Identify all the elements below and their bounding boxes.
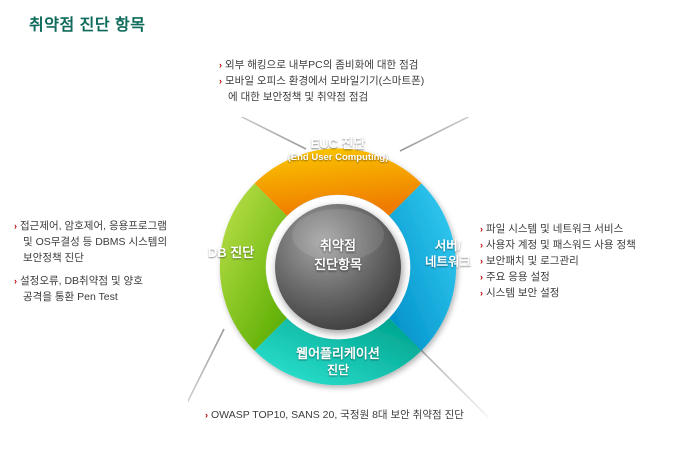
bullet-text: 에 대한 보안정책 및 취약점 점검 bbox=[228, 90, 424, 105]
callout-euc: ›외부 해킹으로 내부PC의 좀비화에 대한 점검›모바일 오피스 환경에서 모… bbox=[219, 58, 424, 106]
bullet-item: ›설정오류, DB취약점 및 양호 bbox=[14, 274, 209, 289]
bullet-arrow-icon: › bbox=[480, 238, 483, 253]
bullet-item-continuation: 보안정책 진단 bbox=[14, 251, 209, 266]
bullet-spacer bbox=[14, 267, 209, 274]
bullet-text: 모바일 오피스 환경에서 모바일기기(스마트폰) bbox=[225, 74, 424, 89]
bullet-item: ›보안패치 및 로그관리 bbox=[480, 254, 636, 269]
bullet-text: 시스템 보안 설정 bbox=[486, 286, 636, 301]
bullet-text: OWASP TOP10, SANS 20, 국정원 8대 보안 취약점 진단 bbox=[211, 408, 464, 423]
donut-chart-svg bbox=[188, 117, 488, 417]
bullet-item: ›외부 해킹으로 내부PC의 좀비화에 대한 점검 bbox=[219, 58, 424, 73]
bullet-item-continuation: 공격을 통환 Pen Test bbox=[14, 290, 209, 305]
page-title: 취약점 진단 항목 bbox=[29, 11, 145, 35]
callout-web-application: ›OWASP TOP10, SANS 20, 국정원 8대 보안 취약점 진단 bbox=[205, 408, 464, 424]
center-sphere-highlight bbox=[292, 209, 384, 261]
bullet-text: 접근제어, 암호제어, 응용프로그램 bbox=[20, 219, 209, 234]
bullet-arrow-icon: › bbox=[14, 219, 17, 234]
bullet-text: 보안패치 및 로그관리 bbox=[486, 254, 636, 269]
bullet-item: ›사용자 계정 및 패스워드 사용 정책 bbox=[480, 238, 636, 253]
bullet-item-continuation: 에 대한 보안정책 및 취약점 점검 bbox=[219, 90, 424, 105]
bullet-text: 설정오류, DB취약점 및 양호 bbox=[20, 274, 209, 289]
bullet-item: ›주요 응용 설정 bbox=[480, 270, 636, 285]
bullet-item: ›OWASP TOP10, SANS 20, 국정원 8대 보안 취약점 진단 bbox=[205, 408, 464, 423]
bullet-text: 주요 응용 설정 bbox=[486, 270, 636, 285]
bullet-text: 외부 해킹으로 내부PC의 좀비화에 대한 점검 bbox=[225, 58, 424, 73]
bullet-item: ›접근제어, 암호제어, 응용프로그램 bbox=[14, 219, 209, 234]
callout-db: ›접근제어, 암호제어, 응용프로그램및 OS무결성 등 DBMS 시스템의보안… bbox=[14, 219, 209, 306]
bullet-text: 파일 시스템 및 네트워크 서비스 bbox=[486, 222, 636, 237]
bullet-item: ›파일 시스템 및 네트워크 서비스 bbox=[480, 222, 636, 237]
bullet-arrow-icon: › bbox=[480, 286, 483, 301]
bullet-arrow-icon: › bbox=[480, 222, 483, 237]
bullet-text: 사용자 계정 및 패스워드 사용 정책 bbox=[486, 238, 636, 253]
bullet-arrow-icon: › bbox=[205, 408, 208, 423]
bullet-arrow-icon: › bbox=[480, 254, 483, 269]
bullet-text: 보안정책 진단 bbox=[23, 251, 209, 266]
bullet-arrow-icon: › bbox=[480, 270, 483, 285]
bullet-item: ›시스템 보안 설정 bbox=[480, 286, 636, 301]
bullet-arrow-icon: › bbox=[219, 74, 222, 89]
callout-server-network: ›파일 시스템 및 네트워크 서비스›사용자 계정 및 패스워드 사용 정책›보… bbox=[480, 222, 636, 302]
bullet-arrow-icon: › bbox=[14, 274, 17, 289]
bullet-arrow-icon: › bbox=[219, 58, 222, 73]
bullet-item: ›모바일 오피스 환경에서 모바일기기(스마트폰) bbox=[219, 74, 424, 89]
bullet-item-continuation: 및 OS무결성 등 DBMS 시스템의 bbox=[14, 235, 209, 250]
bullet-text: 및 OS무결성 등 DBMS 시스템의 bbox=[23, 235, 209, 250]
bullet-text: 공격을 통환 Pen Test bbox=[23, 290, 209, 305]
vulnerability-diagram bbox=[188, 117, 488, 417]
